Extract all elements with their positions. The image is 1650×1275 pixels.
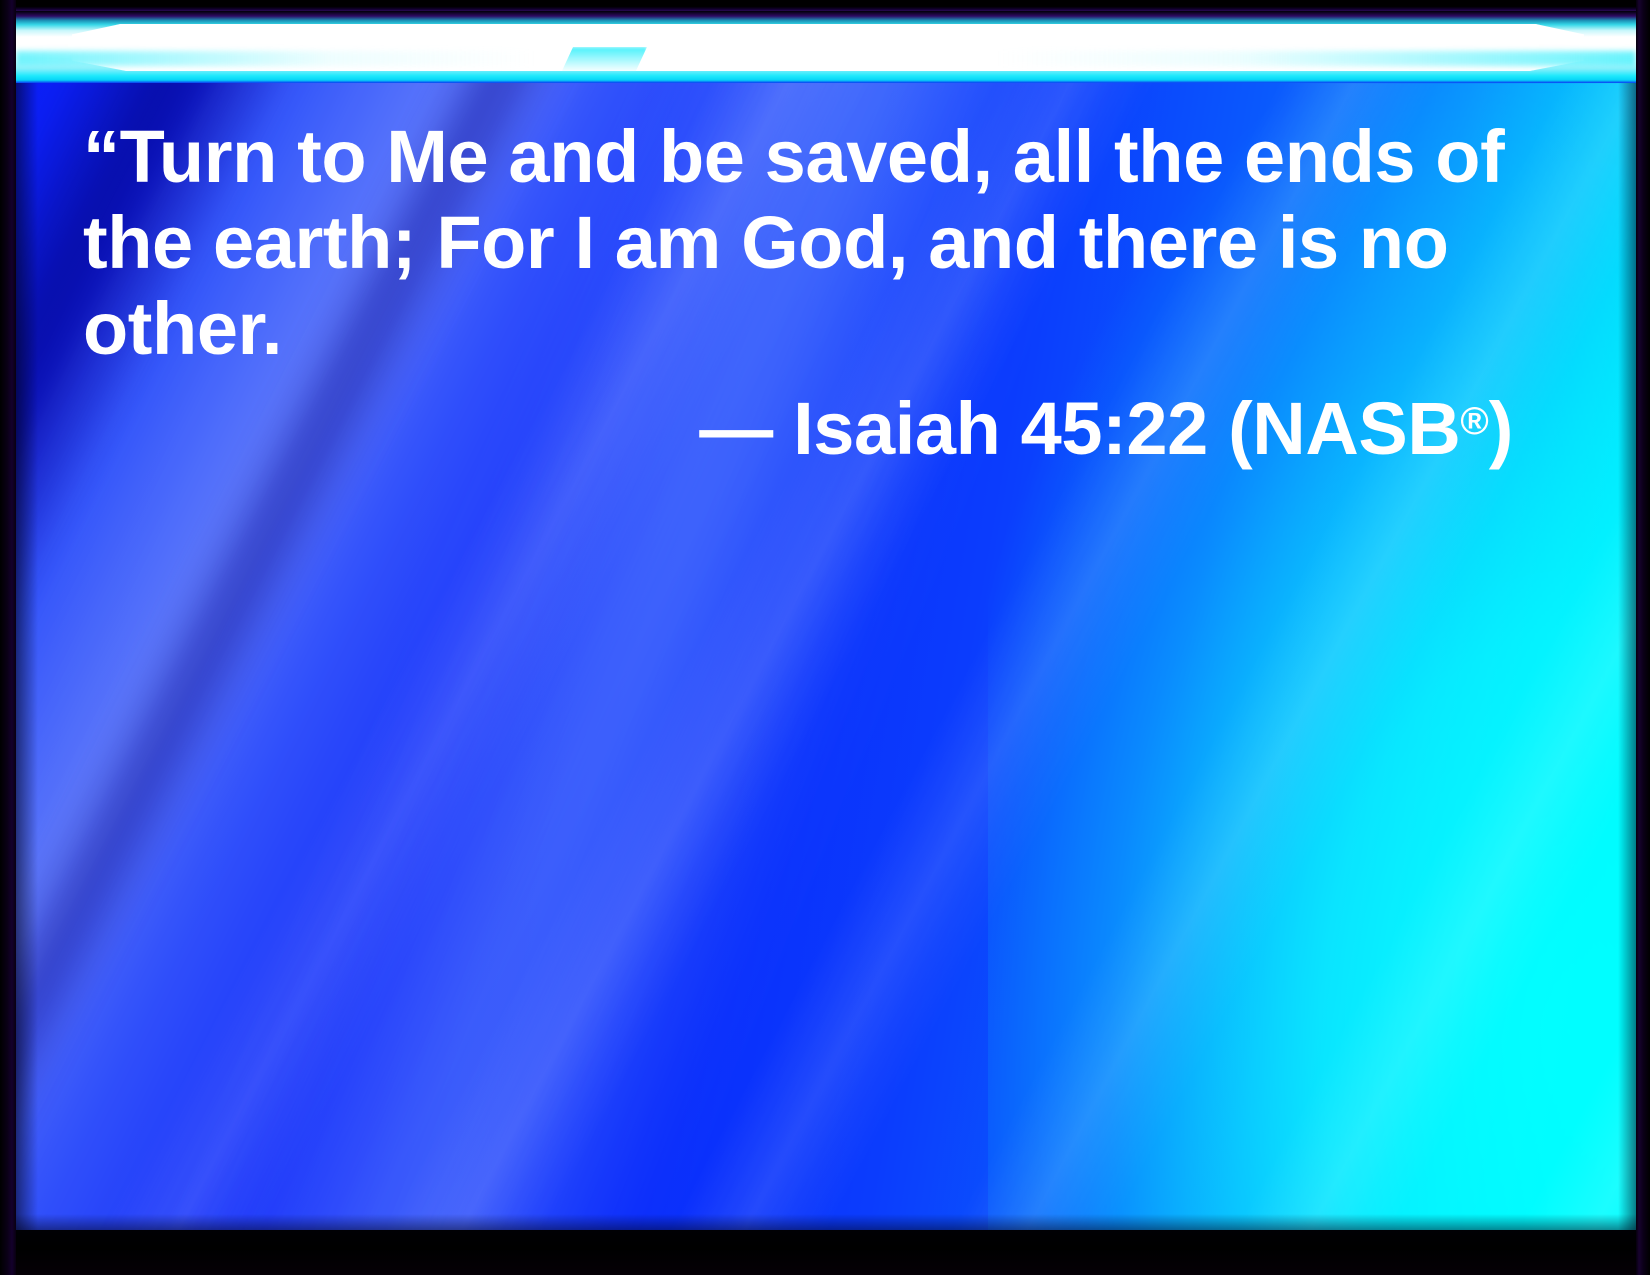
- attribution-reference: Isaiah 45:22: [793, 387, 1208, 470]
- verse-text: “Turn to Me and be saved, all the ends o…: [83, 114, 1513, 372]
- verse-attribution: — Isaiah 45:22 (NASB®): [83, 379, 1513, 472]
- registered-trademark-icon: ®: [1460, 400, 1488, 443]
- attribution-translation-close: ): [1489, 387, 1513, 470]
- frame-border-bottom: [0, 1230, 1650, 1275]
- frame-border-left: [0, 0, 16, 1275]
- frame-border-top: [0, 0, 1650, 11]
- frame-border-right: [1636, 0, 1650, 1275]
- attribution-translation-open: (NASB: [1228, 387, 1460, 470]
- slide-content: “Turn to Me and be saved, all the ends o…: [16, 11, 1636, 1230]
- scripture-slide: “Turn to Me and be saved, all the ends o…: [0, 0, 1650, 1275]
- attribution-dash: —: [699, 387, 773, 470]
